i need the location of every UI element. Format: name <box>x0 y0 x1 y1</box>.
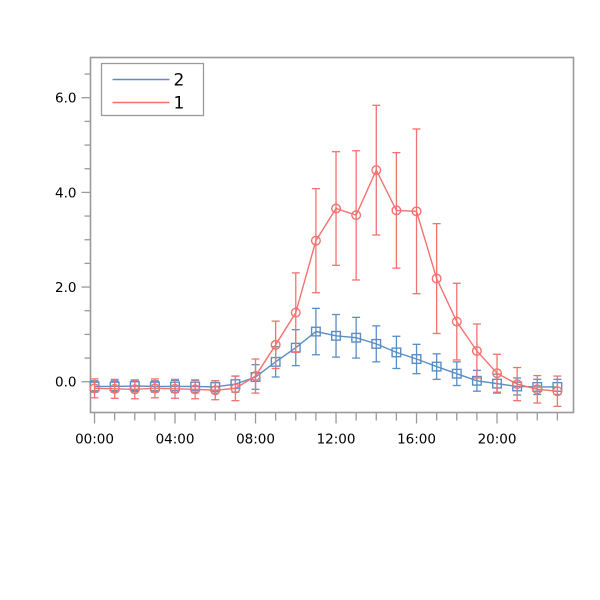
x-axis-tick-labels: 00:0004:0008:0012:0016:0020:00 <box>75 432 516 448</box>
chart-legend: 21 <box>102 64 204 116</box>
error-bars <box>91 308 562 395</box>
x-tick-label: 08:00 <box>236 432 275 448</box>
x-tick-label: 20:00 <box>478 432 517 448</box>
chart-container: 0.02.04.06.0 00:0004:0008:0012:0016:0020… <box>0 0 600 600</box>
y-axis-ticks <box>82 74 91 382</box>
y-tick-label: 2.0 <box>55 280 76 296</box>
series-1 <box>90 105 561 406</box>
x-tick-label: 16:00 <box>397 432 436 448</box>
error-bars <box>91 105 562 406</box>
legend-box <box>102 64 204 116</box>
y-tick-label: 0.0 <box>55 375 76 391</box>
x-tick-label: 12:00 <box>317 432 356 448</box>
series-line <box>95 170 558 391</box>
y-tick-label: 6.0 <box>55 91 76 107</box>
y-axis-tick-labels: 0.02.04.06.0 <box>55 91 76 391</box>
series-markers <box>90 166 561 396</box>
series-markers <box>90 327 561 391</box>
data-series-group <box>90 105 561 406</box>
series-line <box>95 332 558 387</box>
series-2 <box>90 308 561 395</box>
y-tick-label: 4.0 <box>55 185 76 201</box>
x-tick-label: 04:00 <box>156 432 195 448</box>
x-tick-label: 00:00 <box>75 432 114 448</box>
legend-label: 2 <box>174 71 185 91</box>
chart-canvas: 0.02.04.06.0 00:0004:0008:0012:0016:0020… <box>0 0 600 600</box>
legend-label: 1 <box>174 94 185 114</box>
x-axis-ticks <box>95 413 558 424</box>
